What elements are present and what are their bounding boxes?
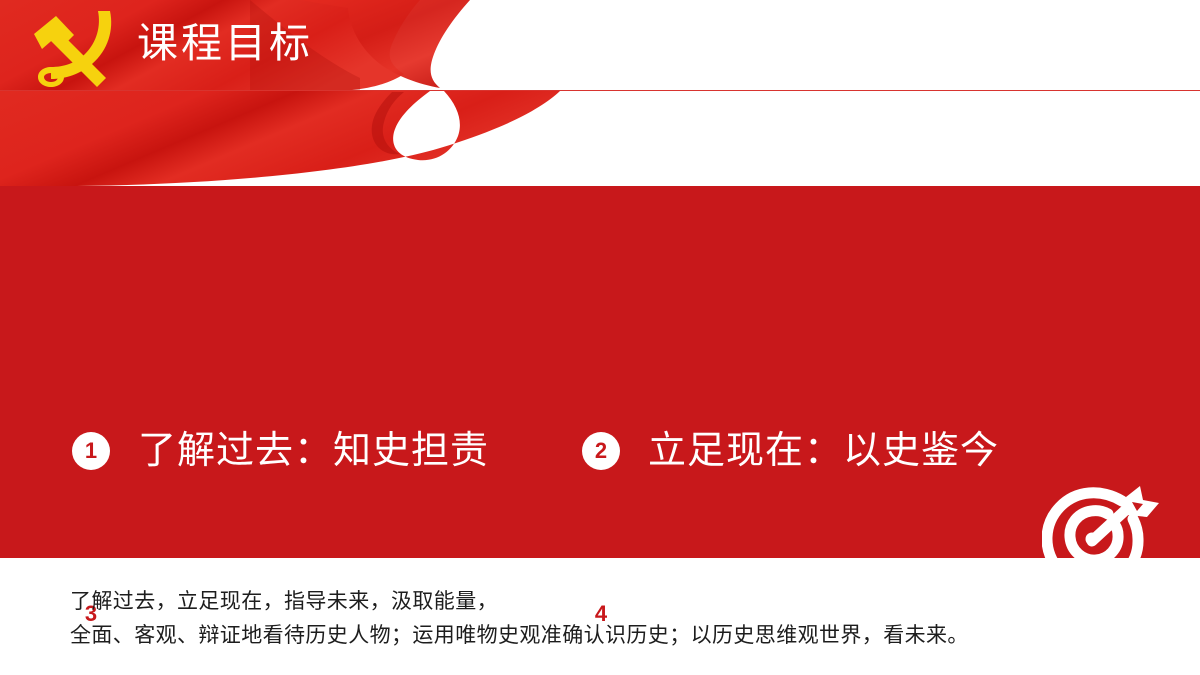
footer-line-1: 了解过去，立足现在，指导未来，汲取能量， [70, 584, 1150, 618]
goal-label: 立足现在：以史鉴今 [648, 428, 999, 474]
slide-header: 课程目标 [0, 0, 1200, 186]
goal-number-badge: 2 [582, 432, 620, 470]
cpc-hammer-sickle-emblem [18, 8, 130, 90]
course-goals-panel: 1 了解过去：知史担责 2 立足现在：以史鉴今 3 指导未来：以史资政 4 深化… [0, 186, 1200, 558]
goal-label: 了解过去：知史担责 [138, 428, 489, 474]
goal-item-1[interactable]: 1 了解过去：知史担责 [72, 423, 489, 479]
slide-canvas: 课程目标 1 了解过去：知史担责 2 立足现在：以史鉴今 3 指导未来：以史资政… [0, 0, 1200, 675]
goal-number-badge: 1 [72, 432, 110, 470]
page-title: 课程目标 [137, 17, 313, 69]
goal-item-2[interactable]: 2 立足现在：以史鉴今 [582, 423, 999, 479]
footer-line-2: 全面、客观、辩证地看待历史人物；运用唯物史观准确认识历史；以历史思维观世界，看未… [70, 618, 1150, 652]
footer-description: 了解过去，立足现在，指导未来，汲取能量， 全面、客观、辩证地看待历史人物；运用唯… [70, 584, 1150, 652]
header-divider-line [0, 90, 1200, 91]
goals-grid: 1 了解过去：知史担责 2 立足现在：以史鉴今 3 指导未来：以史资政 4 深化… [0, 186, 1200, 558]
target-dart-icon [1042, 484, 1160, 594]
